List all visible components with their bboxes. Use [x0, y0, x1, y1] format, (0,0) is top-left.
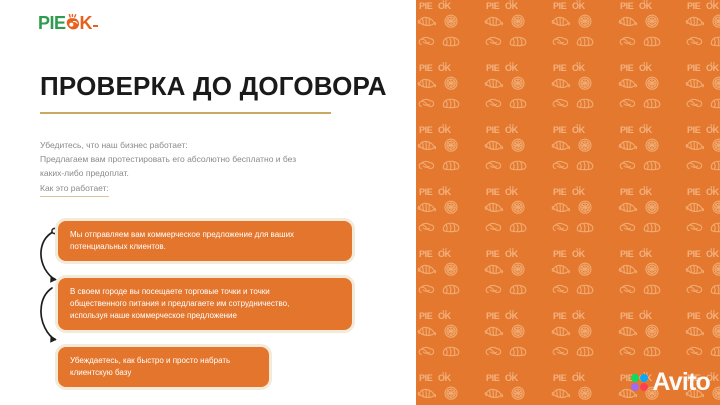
- step-2-line-3: используя наше коммерческое предложение: [70, 310, 340, 322]
- step-box-1[interactable]: Мы отправляем вам коммерческое предложен…: [55, 218, 355, 264]
- step-1-line-2: потенциальных клиентов.: [70, 241, 340, 253]
- title-underline: [40, 112, 331, 114]
- logo-dash: [93, 25, 98, 27]
- intro-line-3: каких-либо предоплат.: [40, 166, 370, 180]
- avito-watermark: Avito: [631, 370, 710, 395]
- step-box-2[interactable]: В своем городе вы посещаете торговые точ…: [55, 275, 355, 333]
- step-1-line-1: Мы отправляем вам коммерческое предложен…: [70, 229, 340, 241]
- steps-list: Мы отправляем вам коммерческое предложен…: [55, 218, 375, 401]
- howto-label: Как это работает:: [40, 183, 109, 197]
- step-2-line-1: В своем городе вы посещаете торговые точ…: [70, 286, 340, 298]
- bakery-pattern: PIE OK: [416, 0, 720, 405]
- brand-logo: PIE K: [38, 12, 98, 34]
- intro-line-2: Предлагаем вам протестировать его абсолю…: [40, 152, 370, 166]
- avito-wordmark: Avito: [652, 370, 710, 395]
- ok-hand-icon: [66, 14, 81, 32]
- step-box-3[interactable]: Убеждаетесь, как быстро и просто набрать…: [55, 344, 272, 390]
- avito-dots-icon: [631, 374, 649, 392]
- decorative-pattern-pane: PIE OK: [416, 0, 720, 405]
- step-3-line-2: клиентскую базу: [70, 367, 257, 379]
- step-2-line-2: общественного питания и предлагаете им с…: [70, 298, 340, 310]
- logo-text-pie: PIE: [38, 14, 66, 32]
- step-3-line-1: Убеждаетесь, как быстро и просто набрать: [70, 355, 257, 367]
- intro-line-1: Убедитесь, что наш бизнес работает:: [40, 138, 370, 152]
- intro-paragraph: Убедитесь, что наш бизнес работает: Пред…: [40, 138, 370, 180]
- page-title: ПРОВЕРКА ДО ДОГОВОРА: [40, 72, 387, 101]
- logo-text-k: K: [80, 14, 93, 32]
- slide-root: PIE K ПРОВЕРКА ДО ДОГОВОРА Убедитесь, чт…: [0, 0, 720, 405]
- content-pane: PIE K ПРОВЕРКА ДО ДОГОВОРА Убедитесь, чт…: [0, 0, 416, 405]
